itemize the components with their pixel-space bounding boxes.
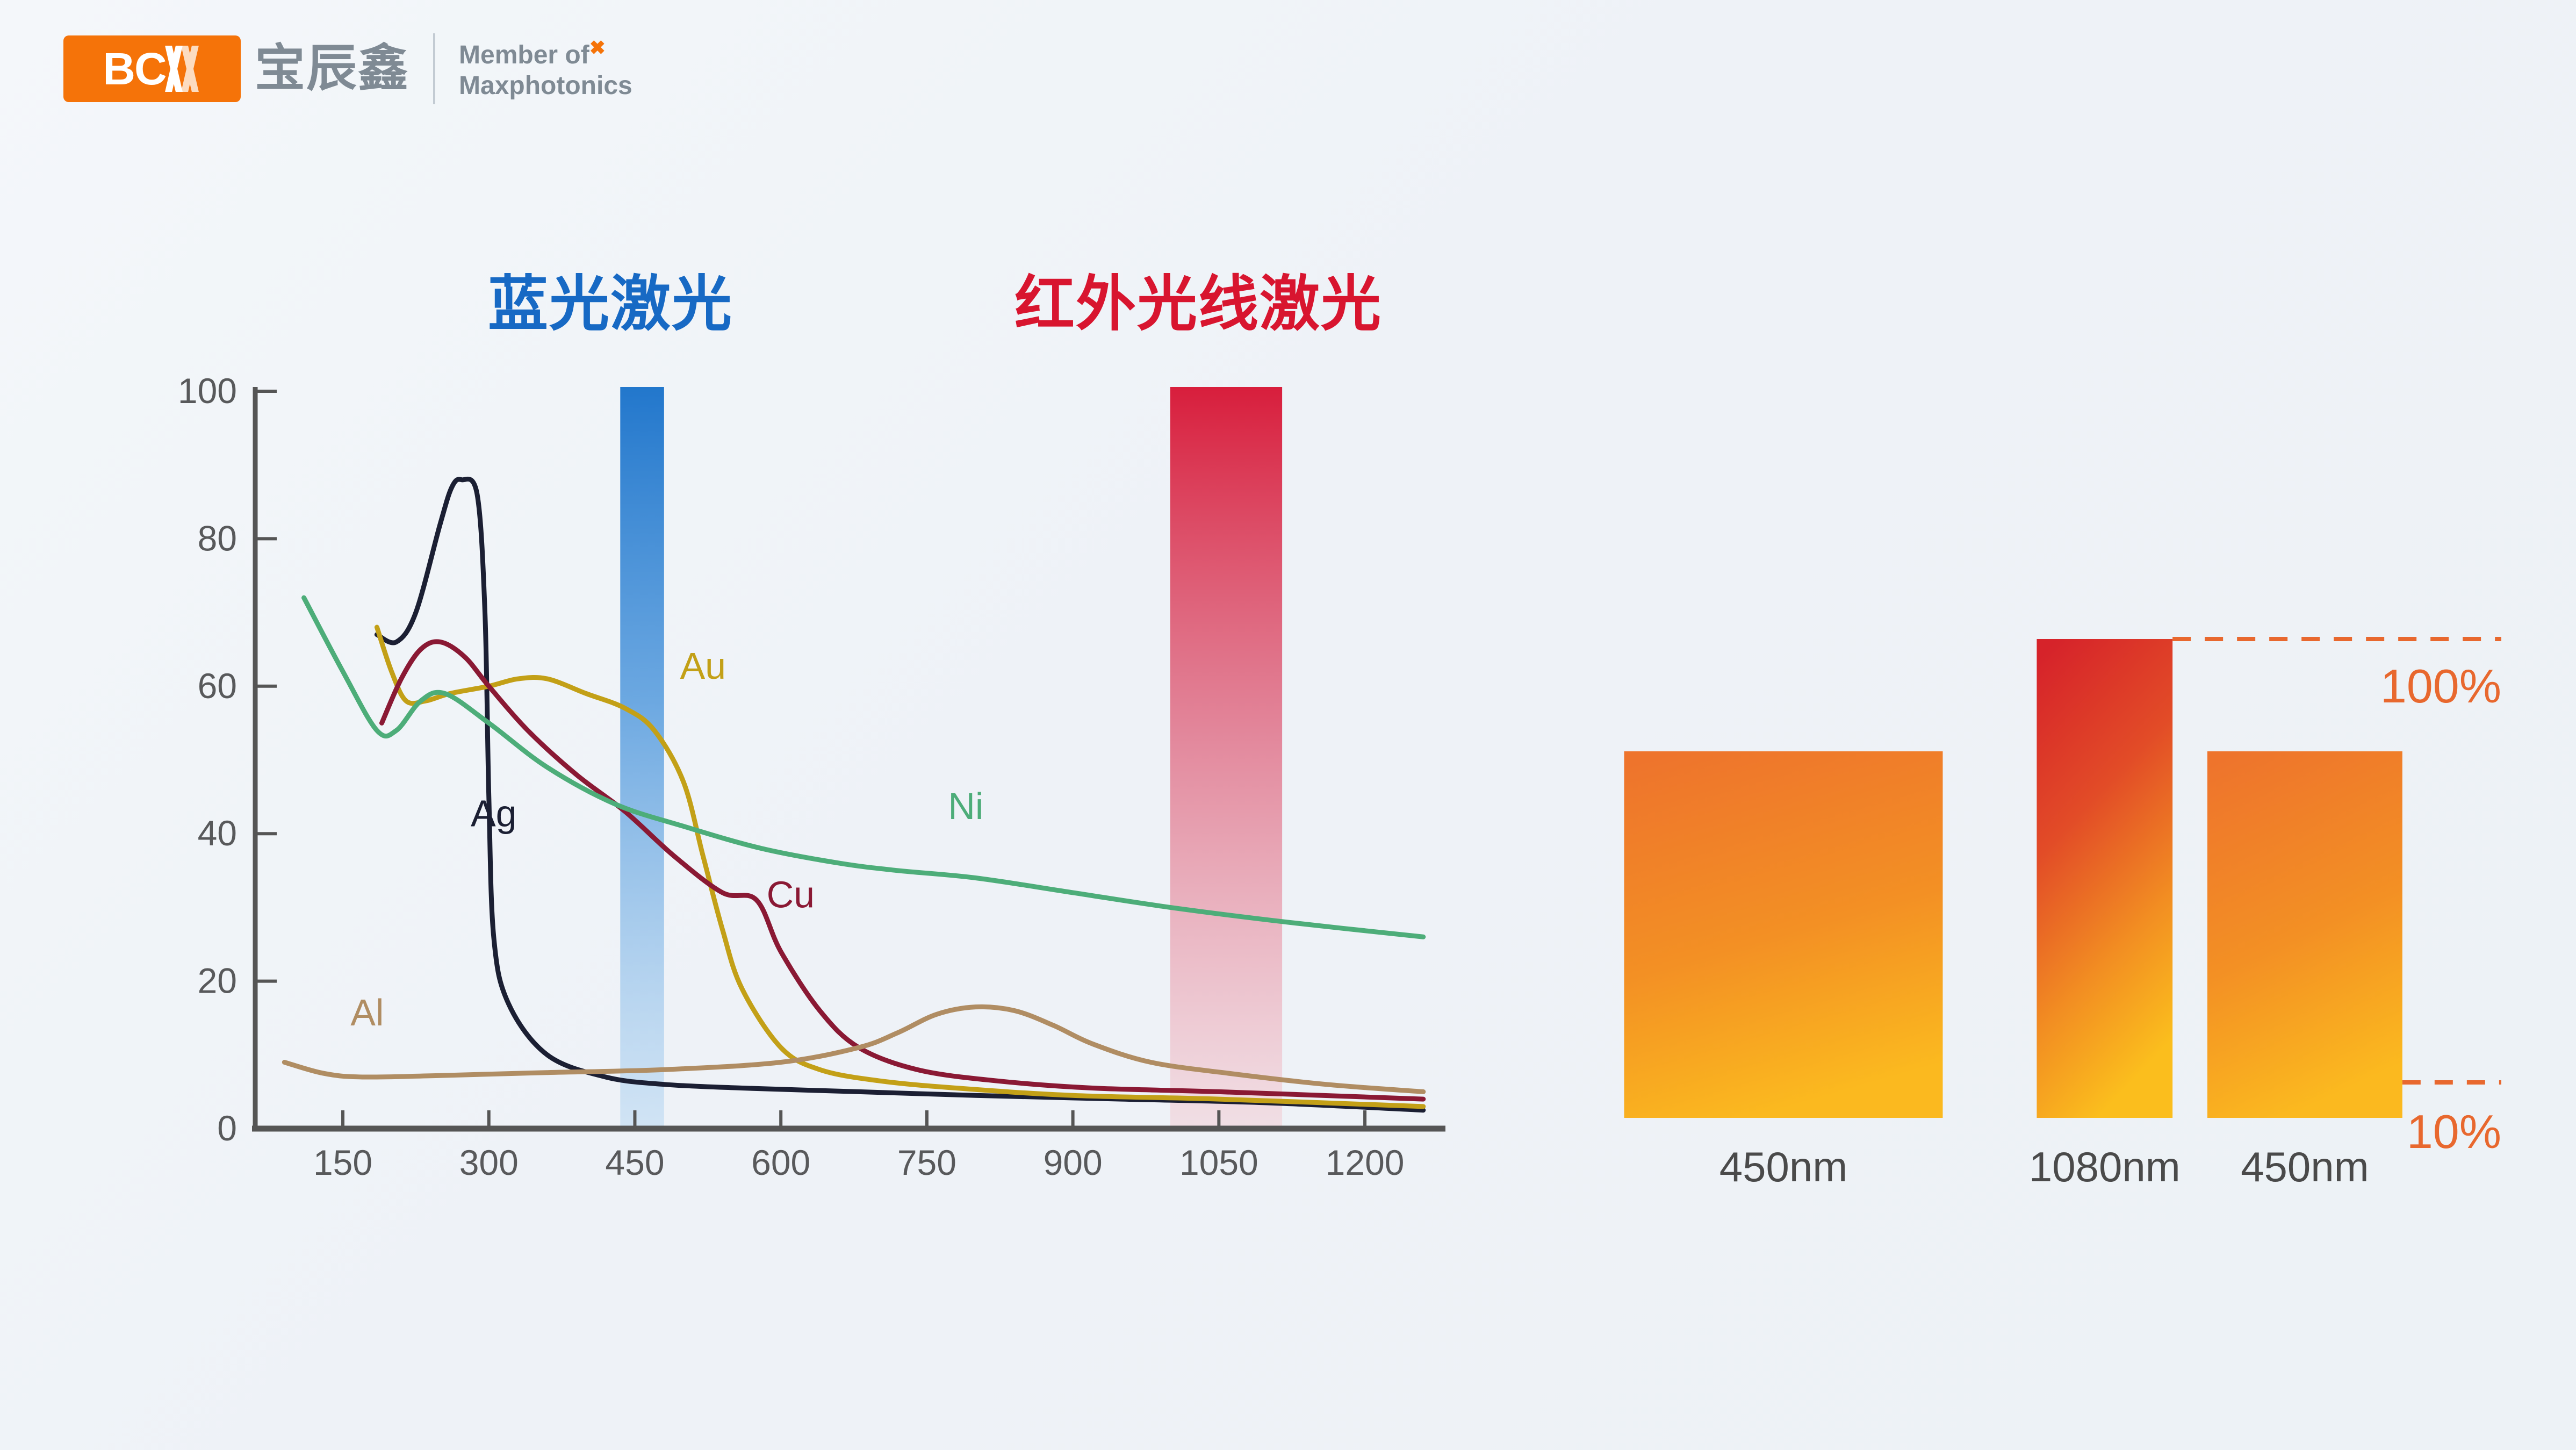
bar-1[interactable] (1624, 751, 1943, 1118)
annotation-100-percent: 100% (2380, 659, 2501, 713)
bars-svg: 100%10% 450nm1080nm450nm (1548, 505, 2568, 1193)
series-label-ni: Ni (948, 785, 983, 827)
title-infrared-laser: 红外光线激光 (1014, 274, 1382, 334)
y-tick-label: 20 (198, 961, 237, 1001)
bar-category-labels: 450nm1080nm450nm (1719, 1143, 2369, 1190)
absorption-spectrum-chart: AuNiCuAgAl 02040608010015030045060075090… (129, 371, 1526, 1209)
title-blue-laser: 蓝光激光 (488, 274, 733, 334)
bar-3[interactable] (2207, 751, 2402, 1118)
slide-canvas: BC 宝辰鑫 Member of✖ Maxphotonics 蓝光激光 红外光线… (0, 0, 2576, 1450)
infrared-laser-band (1170, 387, 1282, 1129)
spectrum-series-labels: AuNiCuAgAl (350, 645, 983, 1033)
member-of-line1: Member of (459, 41, 589, 69)
y-tick-label: 100 (178, 371, 237, 411)
series-label-ag: Ag (471, 792, 517, 834)
x-tick-label: 1050 (1179, 1143, 1258, 1182)
brand-logo: BC 宝辰鑫 Member of✖ Maxphotonics (63, 33, 632, 104)
blue-laser-band (620, 387, 664, 1129)
spectrum-svg: AuNiCuAgAl 02040608010015030045060075090… (129, 371, 1526, 1209)
x-tick-label: 450 (605, 1143, 664, 1182)
x-tick-label: 1200 (1326, 1143, 1405, 1182)
bar-label-2: 1080nm (2029, 1143, 2181, 1190)
y-tick-label: 0 (217, 1108, 237, 1148)
bar-2[interactable] (2037, 639, 2172, 1118)
y-tick-label: 40 (198, 813, 237, 853)
bcx-logo-text: BC (103, 46, 166, 91)
annotation-10-percent: 10% (2407, 1105, 2501, 1158)
series-label-au: Au (680, 645, 726, 687)
laser-bands-group (620, 387, 1282, 1129)
y-tick-label: 80 (198, 518, 237, 558)
brand-chinese-name: 宝辰鑫 (255, 44, 409, 94)
series-label-al: Al (350, 992, 384, 1033)
y-tick-label: 60 (198, 666, 237, 706)
maxphotonics-x-icon: ✖ (589, 37, 606, 59)
x-tick-label: 750 (897, 1143, 956, 1182)
bcx-double-x-icon (168, 46, 202, 92)
member-of-line2: Maxphotonics (459, 71, 632, 102)
bar-label-3: 450nm (2241, 1143, 2369, 1190)
member-of-block: Member of✖ Maxphotonics (459, 37, 632, 101)
bar-label-1: 450nm (1719, 1143, 1848, 1190)
logo-divider (433, 33, 435, 104)
x-tick-label: 300 (459, 1143, 519, 1182)
bars-group (1624, 639, 2402, 1118)
x-tick-label: 150 (313, 1143, 372, 1182)
bcx-logo-mark: BC (63, 35, 241, 102)
member-of-line1-wrap: Member of✖ (459, 37, 632, 71)
x-tick-label: 600 (751, 1143, 810, 1182)
x-tick-label: 900 (1044, 1143, 1103, 1182)
absorption-rate-chart: 100%10% 450nm1080nm450nm (1548, 505, 2568, 1193)
series-label-cu: Cu (767, 873, 815, 915)
